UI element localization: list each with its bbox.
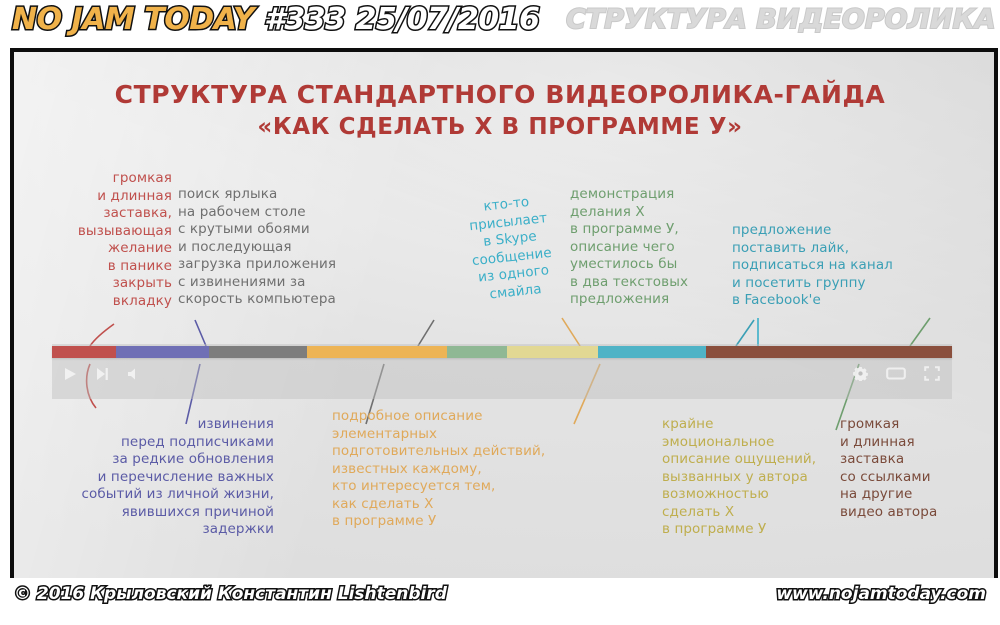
timeline-segment-outro-and-cta[interactable] (706, 346, 952, 358)
play-icon[interactable] (62, 366, 78, 386)
player-controls-right[interactable] (853, 366, 940, 385)
infographic-page: NO JAM TODAY #333 25/07/2016 СТРУКТУРА В… (0, 0, 1000, 625)
page-title: СТРУКТУРА СТАНДАРТНОГО ВИДЕОРОЛИКА-ГАЙДА… (14, 78, 986, 144)
footer-copyright: © 2016 Крыловский Константин Lishtenbird (14, 584, 447, 604)
video-progress-bar[interactable] (52, 346, 952, 358)
settings-gear-icon[interactable] (853, 366, 868, 385)
timeline-segment-apologies[interactable] (116, 346, 209, 358)
player-controls-left[interactable] (62, 366, 142, 386)
volume-icon[interactable] (126, 366, 142, 386)
theater-mode-icon[interactable] (886, 366, 906, 385)
note-demonstration: демонстрация делания X в программе У, оп… (570, 186, 734, 309)
header-issue-date: #333 25/07/2016 (264, 2, 539, 37)
page-title-line2: «КАК СДЕЛАТЬ X В ПРОГРАММЕ У» (14, 111, 986, 144)
timeline-segment-emotional-description[interactable] (507, 346, 597, 358)
header-bar: NO JAM TODAY #333 25/07/2016 СТРУКТУРА В… (0, 0, 1000, 45)
footer-bar: © 2016 Крыловский Константин Lishtenbird… (0, 578, 1000, 625)
note-preparation-description: подробное описание элементарных подготов… (332, 408, 564, 531)
fullscreen-icon[interactable] (924, 366, 940, 385)
timeline-segment-shortcut-search[interactable] (209, 346, 307, 358)
header-brand-title: NO JAM TODAY #333 25/07/2016 (12, 2, 539, 37)
header-subtitle: СТРУКТУРА ВИДЕОРОЛИКА (566, 4, 996, 35)
note-emotional-description: крайне эмоциональное описание ощущений, … (662, 416, 850, 539)
note-intro-splash: громкая и длинная заставка, вызывающая ж… (34, 170, 172, 310)
note-desktop-shortcut-search: поиск ярлыка на рабочем столе с крутыми … (178, 186, 390, 309)
note-call-to-action: предложение поставить лайк, подписаться … (732, 222, 932, 310)
timeline-segment-skype-interruption[interactable] (447, 346, 508, 358)
timeline-segment-intro-splash[interactable] (52, 346, 116, 358)
main-panel: СТРУКТУРА СТАНДАРТНОГО ВИДЕОРОЛИКА-ГАЙДА… (10, 48, 998, 586)
video-player[interactable] (52, 344, 952, 399)
footer-website[interactable]: www.nojamtoday.com (776, 584, 986, 604)
timeline-segment-demonstration[interactable] (598, 346, 706, 358)
note-skype-message: кто-то присылает в Skype сообщение из од… (449, 190, 573, 306)
timeline-segment-preparation[interactable] (307, 346, 447, 358)
note-apologies-to-subscribers: извинения перед подписчиками за редкие о… (34, 416, 274, 539)
page-title-line1: СТРУКТУРА СТАНДАРТНОГО ВИДЕОРОЛИКА-ГАЙДА (14, 78, 986, 111)
next-icon[interactable] (94, 366, 110, 386)
header-brand: NO JAM TODAY (12, 2, 254, 37)
note-outro-splash: громкая и длинная заставка со ссылками н… (840, 416, 986, 521)
